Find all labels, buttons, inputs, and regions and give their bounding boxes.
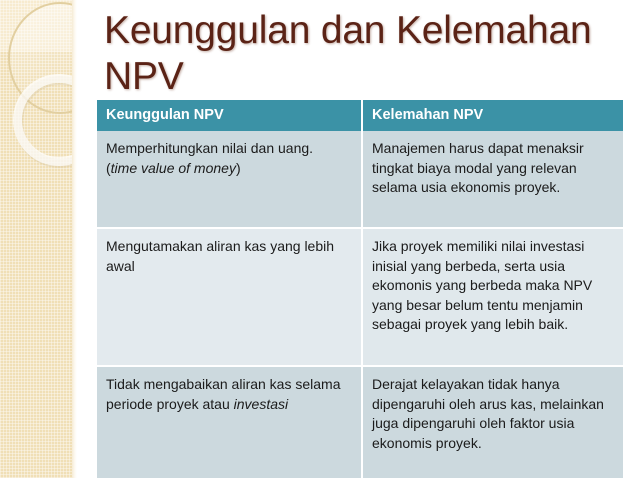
advantage-1-text: Memperhitungkan nilai dan uang. <box>106 140 313 156</box>
cell-drawback-2: Jika proyek memiliki nilai investasi ini… <box>363 229 623 367</box>
cell-advantage-1: Memperhitungkan nilai dan uang. (time va… <box>97 131 363 229</box>
table-row: Mengutamakan aliran kas yang lebih awal … <box>97 229 623 367</box>
cell-advantage-2: Mengutamakan aliran kas yang lebih awal <box>97 229 363 367</box>
advantage-3-italic: investasi <box>234 396 288 412</box>
column-header-advantages: Keunggulan NPV <box>97 100 363 131</box>
table-row: Memperhitungkan nilai dan uang. (time va… <box>97 131 623 229</box>
slide-canvas: Keunggulan dan Kelemahan NPV Keunggulan … <box>0 0 638 478</box>
table-row: Tidak mengabaikan aliran kas selama peri… <box>97 367 623 478</box>
advantage-1-italic: time value of money <box>111 160 236 176</box>
column-header-drawbacks: Kelemahan NPV <box>363 100 623 131</box>
page-title: Keunggulan dan Kelemahan NPV <box>104 8 624 100</box>
comparison-table: Keunggulan NPV Kelemahan NPV Memperhitun… <box>97 100 623 478</box>
sidebar-edge <box>72 0 77 478</box>
cell-drawback-1: Manajemen harus dapat menaksir tingkat b… <box>363 131 623 229</box>
decorative-sidebar <box>0 0 72 478</box>
cell-advantage-3: Tidak mengabaikan aliran kas selama peri… <box>97 367 363 478</box>
advantage-3-text: Tidak mengabaikan aliran kas selama peri… <box>106 376 341 412</box>
advantage-1-paren-close: ) <box>236 160 241 176</box>
cell-drawback-3: Derajat kelayakan tidak hanya dipengaruh… <box>363 367 623 478</box>
table-header-row: Keunggulan NPV Kelemahan NPV <box>97 100 623 131</box>
